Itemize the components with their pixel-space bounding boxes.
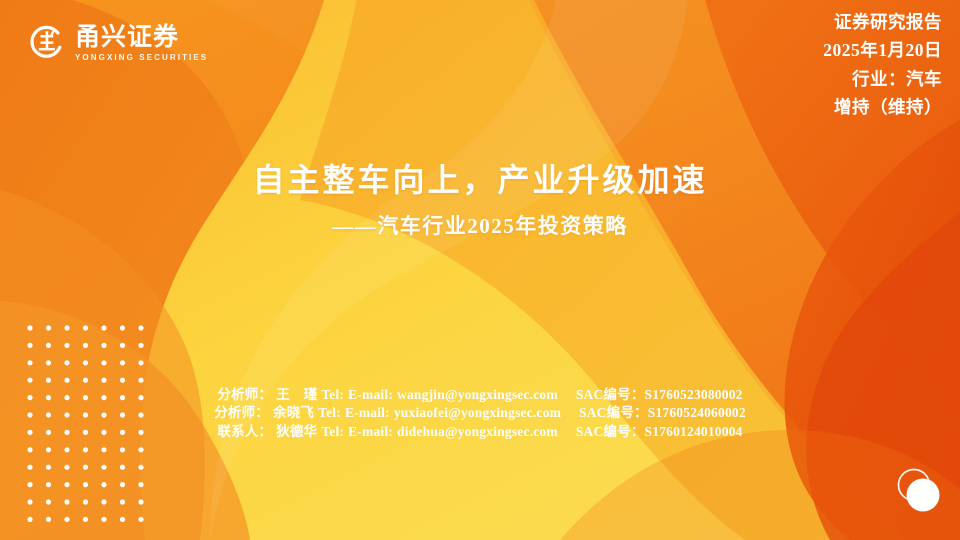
report-cover-page: 甬兴证券 YONGXING SECURITIES 证券研究报告 2025年1月2… [0, 0, 960, 540]
report-rating-label: 增持（维持） [823, 93, 942, 121]
page-title: 自主整车向上，产业升级加速 [0, 160, 960, 200]
analyst-tel-label: Tel: [321, 387, 344, 402]
analyst-email-label: E-mail: [345, 405, 390, 420]
analyst-role: 分析师： [217, 387, 272, 402]
contact-sac-number: S1760124010004 [645, 424, 743, 439]
contact-sac-label: SAC编号： [576, 424, 645, 439]
analyst-sac-number: S1760523080002 [645, 387, 743, 402]
contact-role: 联系人： [217, 424, 272, 439]
title-block: 自主整车向上，产业升级加速 ——汽车行业2025年投资策略 [0, 160, 960, 240]
analyst-email[interactable]: wangjin@yongxingsec.com [397, 387, 558, 402]
analyst-list: 分析师：王 瑾Tel:E-mail:wangjin@yongxingsec.co… [0, 386, 960, 441]
report-type-label: 证券研究报告 [823, 8, 942, 36]
analyst-role: 分析师： [214, 405, 269, 420]
report-industry-label: 行业：汽车 [823, 65, 942, 93]
contact-name: 狄德华 [276, 424, 317, 439]
yongxing-circle-mark-icon [28, 24, 66, 62]
contact-email-label: E-mail: [348, 424, 393, 439]
report-date-label: 2025年1月20日 [823, 36, 942, 64]
brand-name-cn: 甬兴证券 [75, 25, 208, 50]
analyst-email[interactable]: yuxiaofei@yongxingsec.com [394, 405, 561, 420]
analyst-sac-label: SAC编号： [579, 405, 648, 420]
analyst-name: 王 瑾 [276, 387, 317, 402]
brand-name-en: YONGXING SECURITIES [75, 54, 208, 62]
analyst-name: 余晓飞 [273, 405, 314, 420]
analyst-row: 联系人：狄德华Tel:E-mail:didehua@yongxingsec.co… [0, 423, 960, 441]
analyst-tel-label: Tel: [318, 405, 341, 420]
page-subtitle: ——汽车行业2025年投资策略 [0, 210, 960, 240]
overlapping-circles-icon [888, 460, 950, 522]
analyst-row: 分析师：余晓飞Tel:E-mail:yuxiaofei@yongxingsec.… [0, 404, 960, 422]
contact-email[interactable]: didehua@yongxingsec.com [397, 424, 558, 439]
analyst-sac-label: SAC编号： [576, 387, 645, 402]
contact-tel-label: Tel: [321, 424, 344, 439]
report-meta: 证券研究报告 2025年1月20日 行业：汽车 增持（维持） [823, 8, 942, 121]
brand-logo: 甬兴证券 YONGXING SECURITIES [28, 24, 208, 62]
analyst-sac-number: S1760524060002 [648, 405, 746, 420]
analyst-email-label: E-mail: [348, 387, 393, 402]
brand-logo-text: 甬兴证券 YONGXING SECURITIES [75, 25, 208, 62]
analyst-row: 分析师：王 瑾Tel:E-mail:wangjin@yongxingsec.co… [0, 386, 960, 404]
